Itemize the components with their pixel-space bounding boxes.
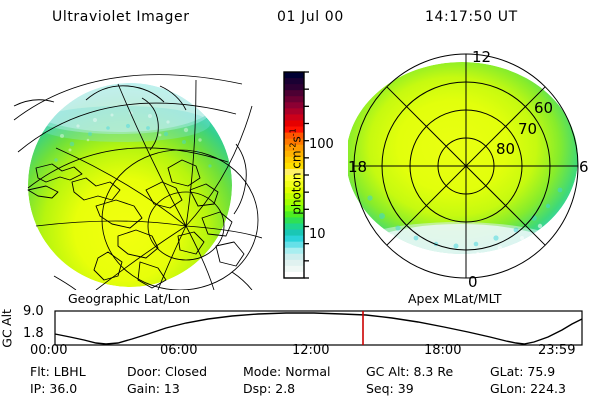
colorbar-group: photon cm-2s-1 100 10 [265,60,345,290]
timeline-xtick-2359: 23:59 [538,343,575,358]
status-dsp: Dsp: 2.8 [243,381,295,396]
status-mode: Mode: Normal [243,364,330,379]
observation-date: 01 Jul 00 [277,9,344,25]
timeline-xtick-1800: 18:00 [424,343,461,358]
apex-mlat-mlt-panel[interactable]: 12 6 0 18 60 70 80 [348,40,600,290]
status-ip: IP: 36.0 [30,381,77,396]
status-glat: GLat: 75.9 [490,364,555,379]
colorbar-swatch [284,78,304,85]
colorbar-axis-label: photon cm-2s-1 [289,97,304,247]
status-door: Door: Closed [127,364,207,379]
mlt-label-12: 12 [472,48,491,66]
colorbar-swatch [284,72,304,79]
colorbar-ticks [304,72,309,278]
mlt-spokes [354,54,578,278]
timeline-svg [0,290,600,348]
status-seq: Seq: 39 [366,381,414,396]
timeline-xtick-0600: 06:00 [160,343,197,358]
apex-plot-svg: 12 6 0 18 60 70 80 [348,40,600,290]
colorbar-svg[interactable] [265,60,345,290]
colorbar-swatch [284,254,304,261]
observation-time: 14:17:50 UT [425,9,518,25]
timeline-xtick-1200: 12:00 [292,343,329,358]
header-bar: Ultraviolet Imager 01 Jul 00 14:17:50 UT [0,0,600,38]
colorbar-swatch [284,260,304,267]
orbit-timeline-panel[interactable]: Geographic Lat/Lon Apex MLat/MLT Alt GC … [0,290,600,356]
colorbar-swatch [284,248,304,255]
mlt-label-6: 6 [579,158,589,176]
status-block: Flt: LBHL IP: 36.0 Door: Closed Gain: 13… [0,360,600,400]
colorbar-swatch [284,84,304,91]
status-filter: Flt: LBHL [30,364,86,379]
mlt-label-18: 18 [348,158,367,176]
mlat-label-80: 80 [496,140,515,158]
colorbar-swatch [284,266,304,273]
status-gc-alt: GC Alt: 8.3 Re [366,364,453,379]
altitude-trace [55,313,582,344]
mlat-label-70: 70 [518,120,537,138]
colorbar-tick-label-100: 100 [309,137,334,152]
status-gain: Gain: 13 [127,381,180,396]
aurora-emission-geographic [24,72,232,287]
colorbar-tick-label-10: 10 [309,227,326,242]
instrument-title: Ultraviolet Imager [52,9,190,25]
geographic-image-panel[interactable] [0,40,262,290]
geographic-plot-svg [0,40,262,290]
mlt-label-0: 0 [468,273,478,290]
timeline-xtick-0000: 00:00 [30,343,67,358]
mlat-label-60: 60 [534,99,553,117]
status-glon: GLon: 224.3 [490,381,566,396]
